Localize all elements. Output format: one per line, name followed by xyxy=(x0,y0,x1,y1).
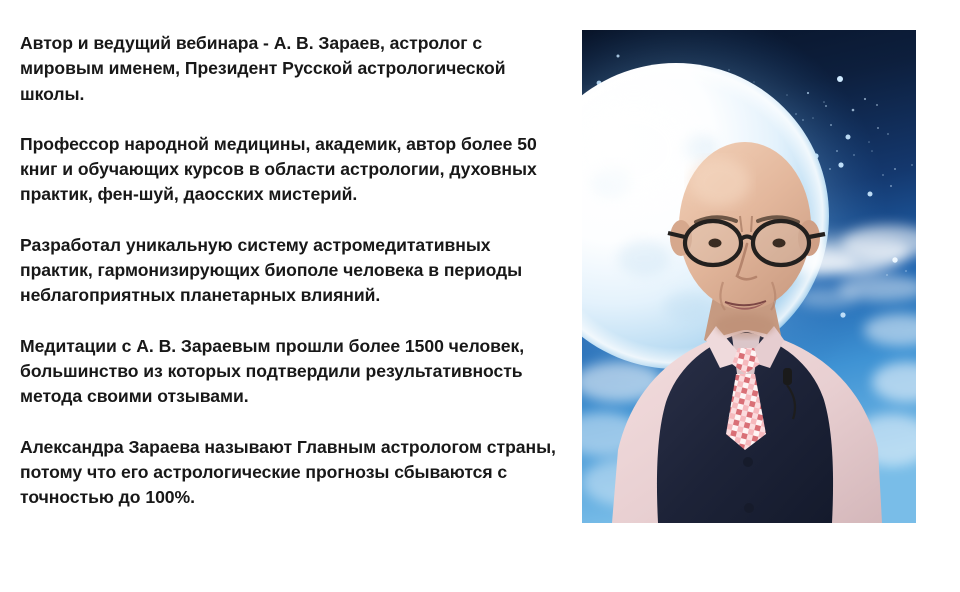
biography-text-block: Автор и ведущий вебинара - А. В. Зараев,… xyxy=(20,31,565,510)
bio-paragraph-2: Профессор народной медицины, академик, а… xyxy=(20,132,565,208)
forehead-highlight xyxy=(690,158,750,206)
slide-canvas: Автор и ведущий вебинара - А. В. Зараев,… xyxy=(0,0,960,592)
portrait-photo xyxy=(582,30,916,523)
vest-button-bottom xyxy=(744,503,754,513)
bio-paragraph-5: Александра Зараева называют Главным астр… xyxy=(20,435,565,511)
eye-left xyxy=(709,239,722,248)
vest-button-top xyxy=(743,457,753,467)
bio-paragraph-4: Медитации с А. В. Зараевым прошли более … xyxy=(20,334,565,410)
bio-paragraph-1: Автор и ведущий вебинара - А. В. Зараев,… xyxy=(20,31,565,107)
bio-paragraph-3: Разработал уникальную систему астромедит… xyxy=(20,233,565,309)
chin-shadow xyxy=(715,314,775,338)
eye-right xyxy=(773,239,786,248)
portrait-illustration xyxy=(582,30,916,523)
